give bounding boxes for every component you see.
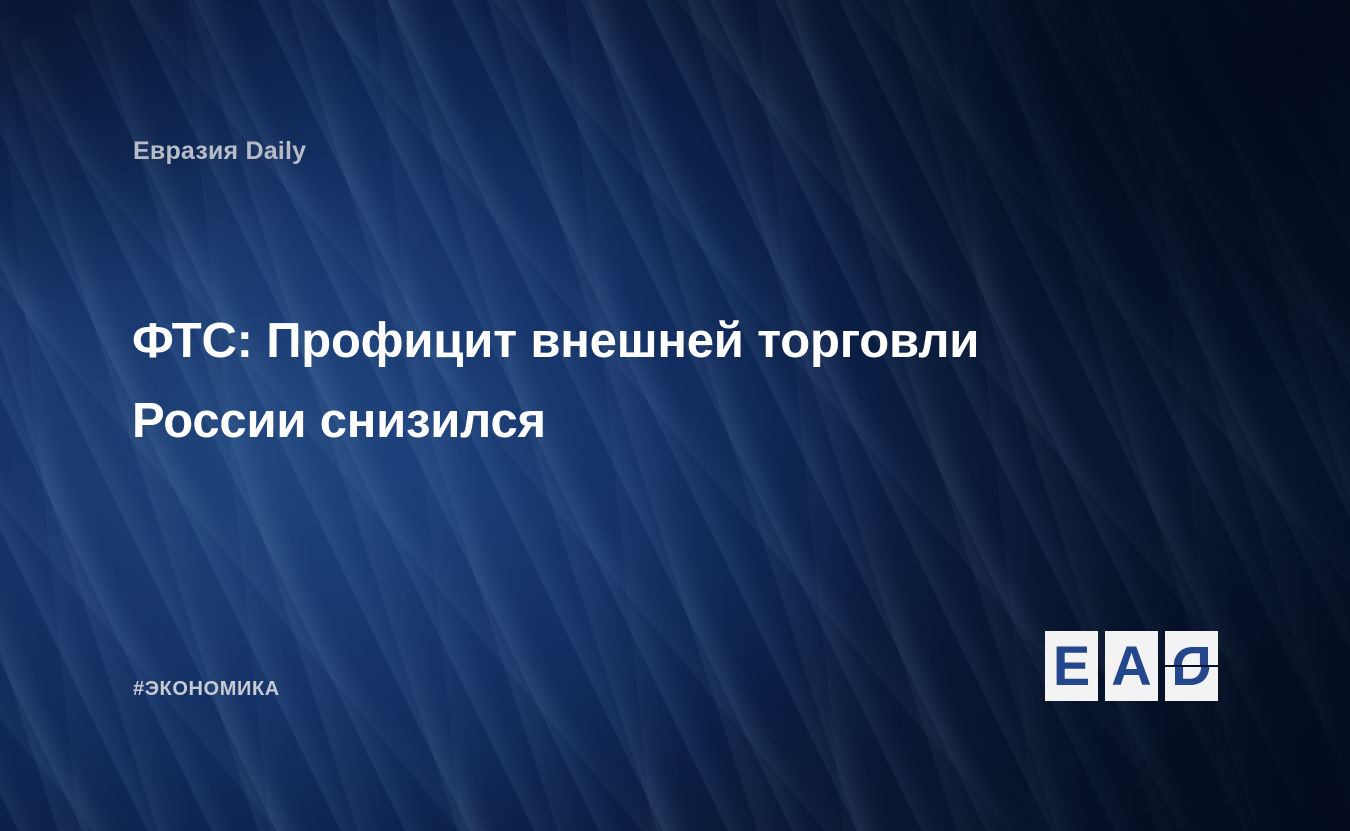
logo-letter-d-rotated: D	[1165, 631, 1218, 665]
category-tag: #ЭКОНОМИКА	[133, 678, 280, 701]
logo-letter-d: D	[1165, 667, 1218, 701]
ead-logo: E A D D	[1045, 631, 1220, 701]
headline-title: ФТС: Профицит внешней торговли России сн…	[132, 301, 1092, 461]
logo-cell-a: A	[1105, 631, 1158, 701]
logo-cell-e: E	[1045, 631, 1098, 701]
article-share-card: Евразия Daily ФТС: Профицит внешней торг…	[0, 0, 1350, 831]
logo-cell-d-split: D D	[1165, 631, 1218, 701]
brand-name: Евразия Daily	[133, 137, 306, 166]
logo-letter-e: E	[1045, 631, 1098, 701]
card-content: Евразия Daily ФТС: Профицит внешней торг…	[0, 0, 1350, 831]
logo-letter-a: A	[1105, 631, 1158, 701]
logo-cell-d-top: D	[1165, 631, 1218, 665]
logo-cell-d-bottom: D	[1165, 667, 1218, 701]
